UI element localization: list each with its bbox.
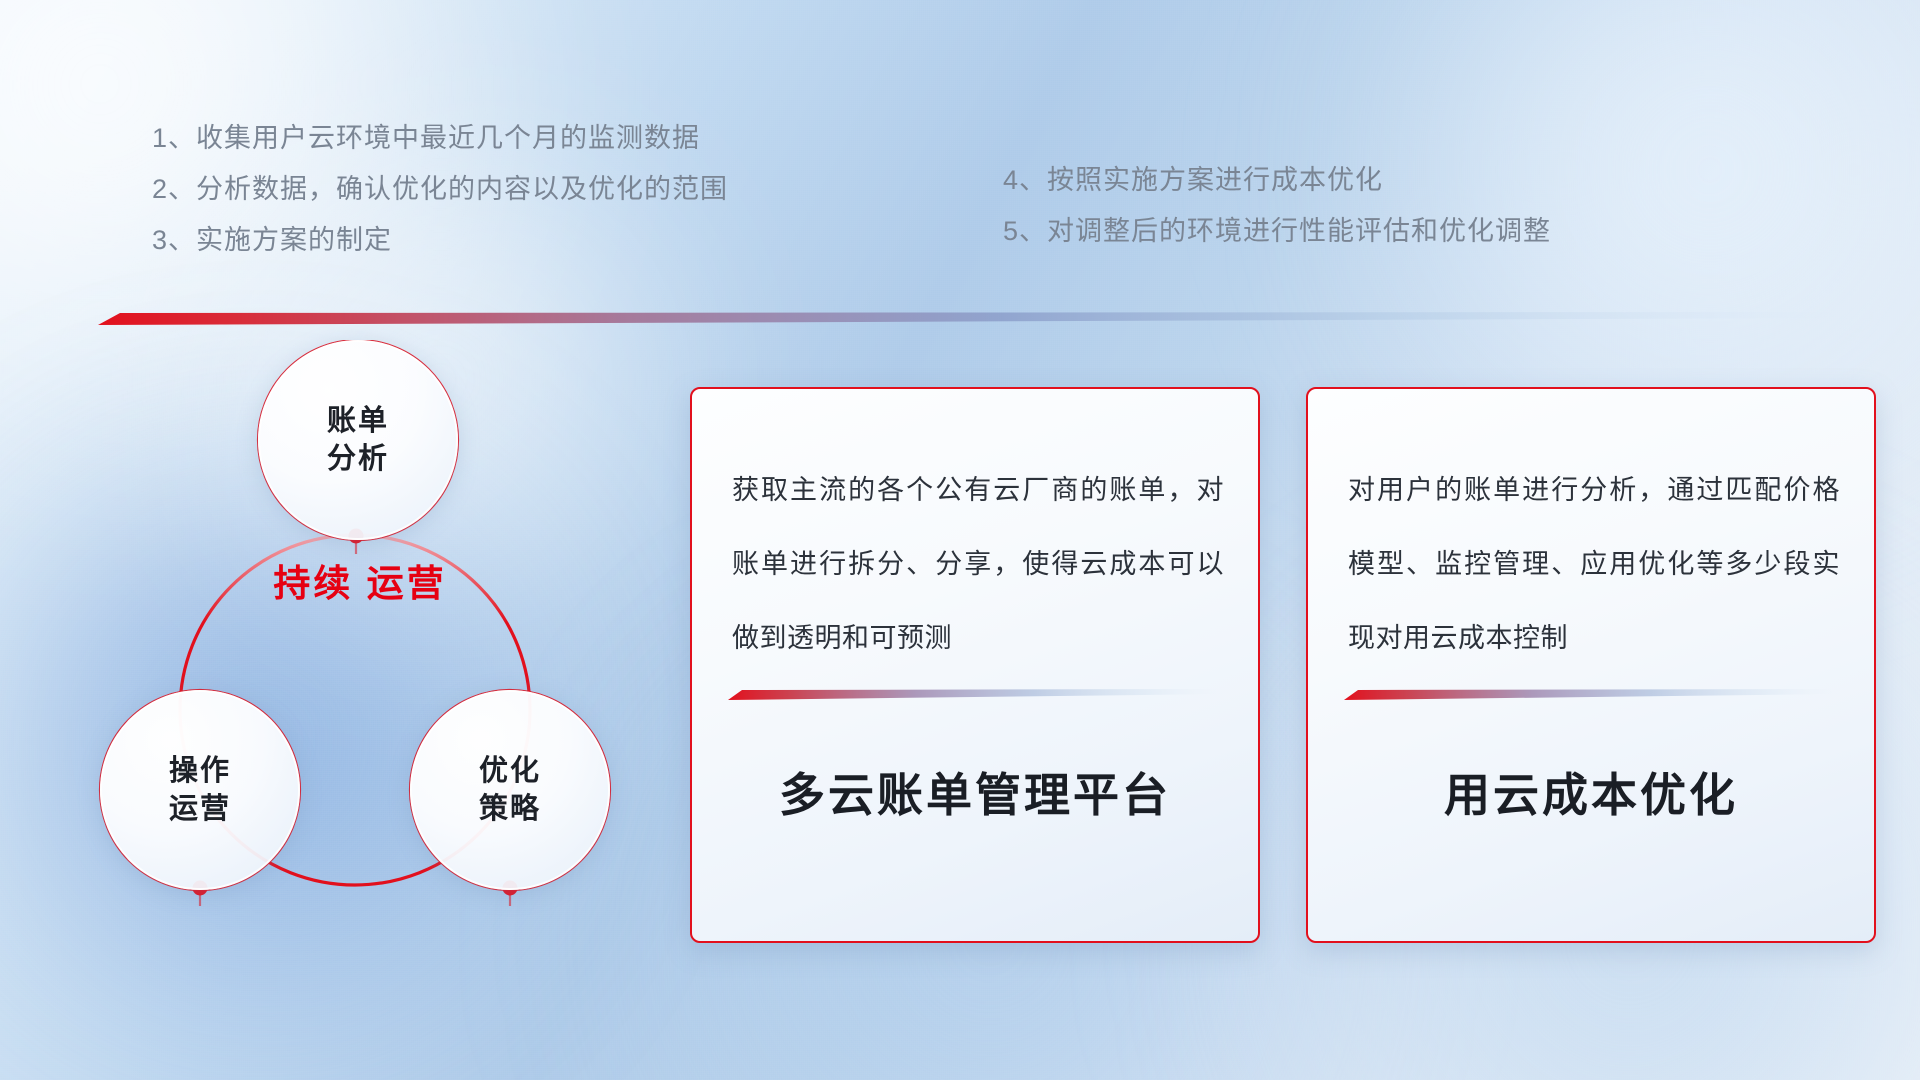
- card-body-text: 获取主流的各个公有云厂商的账单，对账单进行拆分、分享，使得云成本可以做到透明和可…: [732, 453, 1224, 675]
- venn-bubble-label-line1: 操作: [169, 752, 231, 790]
- card-body-text: 对用户的账单进行分析，通过匹配价格模型、监控管理、应用优化等多少段实现对用云成本…: [1348, 453, 1840, 675]
- venn-center-label: 持续 运营: [265, 560, 455, 608]
- venn-center-label-line2: 运营: [367, 563, 447, 604]
- slide-canvas: 1、收集用户云环境中最近几个月的监测数据 2、分析数据，确认优化的内容以及优化的…: [0, 0, 1920, 1080]
- venn-bubble-label-line2: 运营: [169, 790, 231, 828]
- process-steps-right: 4、按照实施方案进行成本优化 5、对调整后的环境进行性能评估和优化调整: [1003, 155, 1551, 257]
- card-title: 多云账单管理平台: [692, 759, 1258, 825]
- process-step-1: 1、收集用户云环境中最近几个月的监测数据: [152, 113, 728, 164]
- process-steps-left: 1、收集用户云环境中最近几个月的监测数据 2、分析数据，确认优化的内容以及优化的…: [152, 113, 728, 266]
- card-divider: [728, 689, 1222, 700]
- venn-center-label-line1: 持续: [273, 563, 353, 604]
- venn-bubble-label-line2: 策略: [479, 790, 541, 828]
- card-cloud-cost-optimization[interactable]: 对用户的账单进行分析，通过匹配价格模型、监控管理、应用优化等多少段实现对用云成本…: [1306, 387, 1876, 943]
- venn-bubble-label-line1: 优化: [479, 752, 541, 790]
- venn-bubble-label-line2: 分析: [327, 440, 389, 478]
- venn-bubble-operation-ops[interactable]: 操作 运营: [100, 690, 300, 890]
- venn-bubble-optimization-policy[interactable]: 优化 策略: [410, 690, 610, 890]
- card-title: 用云成本优化: [1308, 759, 1874, 825]
- process-step-3: 3、实施方案的制定: [152, 215, 728, 266]
- section-divider-top: [98, 312, 1838, 325]
- venn-bubble-bill-analysis[interactable]: 账单 分析: [258, 340, 458, 540]
- process-step-4: 4、按照实施方案进行成本优化: [1003, 155, 1551, 206]
- process-step-5: 5、对调整后的环境进行性能评估和优化调整: [1003, 206, 1551, 257]
- process-step-2: 2、分析数据，确认优化的内容以及优化的范围: [152, 164, 728, 215]
- venn-diagram: 账单 分析 操作 运营 优化 策略 持续 运营: [90, 340, 650, 960]
- card-multi-cloud-bill-platform[interactable]: 获取主流的各个公有云厂商的账单，对账单进行拆分、分享，使得云成本可以做到透明和可…: [690, 387, 1260, 943]
- venn-bubble-label-line1: 账单: [327, 402, 389, 440]
- card-divider: [1344, 689, 1838, 700]
